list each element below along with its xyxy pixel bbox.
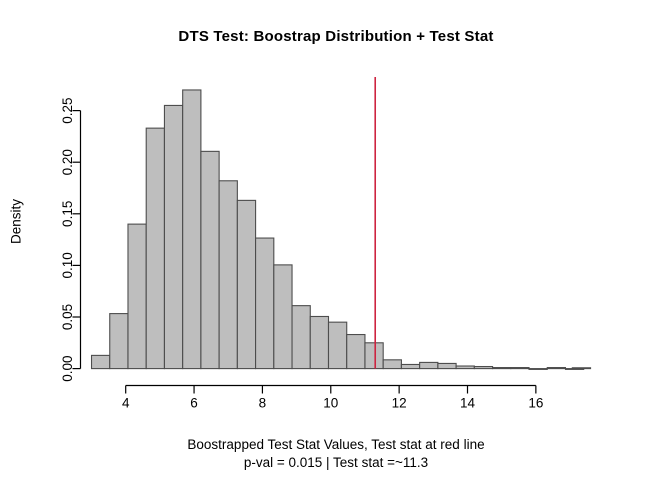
y-tick-label: 0.10 — [60, 252, 75, 278]
histogram-bar — [256, 238, 274, 369]
x-tick-label: 6 — [190, 396, 198, 411]
histogram-bar — [146, 128, 164, 368]
histogram-bar — [274, 265, 292, 369]
histogram-bar — [383, 360, 401, 369]
x-tick-label: 10 — [323, 396, 338, 411]
histogram-bar — [329, 322, 347, 368]
x-axis: 46810121416 — [122, 386, 543, 411]
x-tick-label: 16 — [528, 396, 543, 411]
histogram-bar — [310, 316, 328, 368]
histogram-bar — [365, 343, 383, 369]
histogram-bar — [201, 151, 219, 368]
y-tick-label: 0.15 — [60, 201, 75, 227]
histogram-bar — [547, 368, 565, 369]
histogram-bar — [420, 362, 438, 368]
x-tick-label: 4 — [122, 396, 130, 411]
x-axis-label: Boostrapped Test Stat Values, Test stat … — [0, 437, 672, 452]
x-tick-label: 8 — [259, 396, 267, 411]
histogram-bar — [128, 224, 146, 368]
histogram-bar — [164, 105, 182, 368]
histogram-plot: 0.000.050.100.150.200.25 46810121416 — [0, 0, 672, 480]
x-tick-label: 14 — [460, 396, 476, 411]
y-tick-label: 0.05 — [60, 304, 75, 330]
y-tick-label: 0.20 — [60, 149, 75, 175]
histogram-bar — [493, 368, 511, 369]
histogram-bar — [438, 363, 456, 368]
histogram-bar — [110, 314, 128, 369]
histogram-bar — [183, 90, 201, 369]
x-axis-sublabel: p-val = 0.015 | Test stat =~11.3 — [0, 455, 672, 470]
histogram-bar — [401, 364, 419, 368]
histogram-bar — [474, 367, 492, 369]
histogram-bar — [292, 306, 310, 369]
y-tick-label: 0.25 — [60, 97, 75, 123]
histogram-bar — [529, 369, 547, 370]
histogram-bar — [219, 181, 237, 369]
histogram-bar — [92, 355, 110, 368]
histogram-bar — [456, 366, 474, 369]
y-axis: 0.000.050.100.150.200.25 — [60, 97, 81, 381]
histogram-bar — [572, 368, 590, 369]
histogram-bar — [347, 335, 365, 369]
y-tick-label: 0.00 — [60, 355, 75, 381]
histogram-bars — [92, 90, 591, 369]
x-tick-label: 12 — [392, 396, 407, 411]
chart-canvas: DTS Test: Boostrap Distribution + Test S… — [0, 0, 672, 480]
histogram-bar — [237, 200, 255, 368]
histogram-bar — [511, 368, 529, 369]
